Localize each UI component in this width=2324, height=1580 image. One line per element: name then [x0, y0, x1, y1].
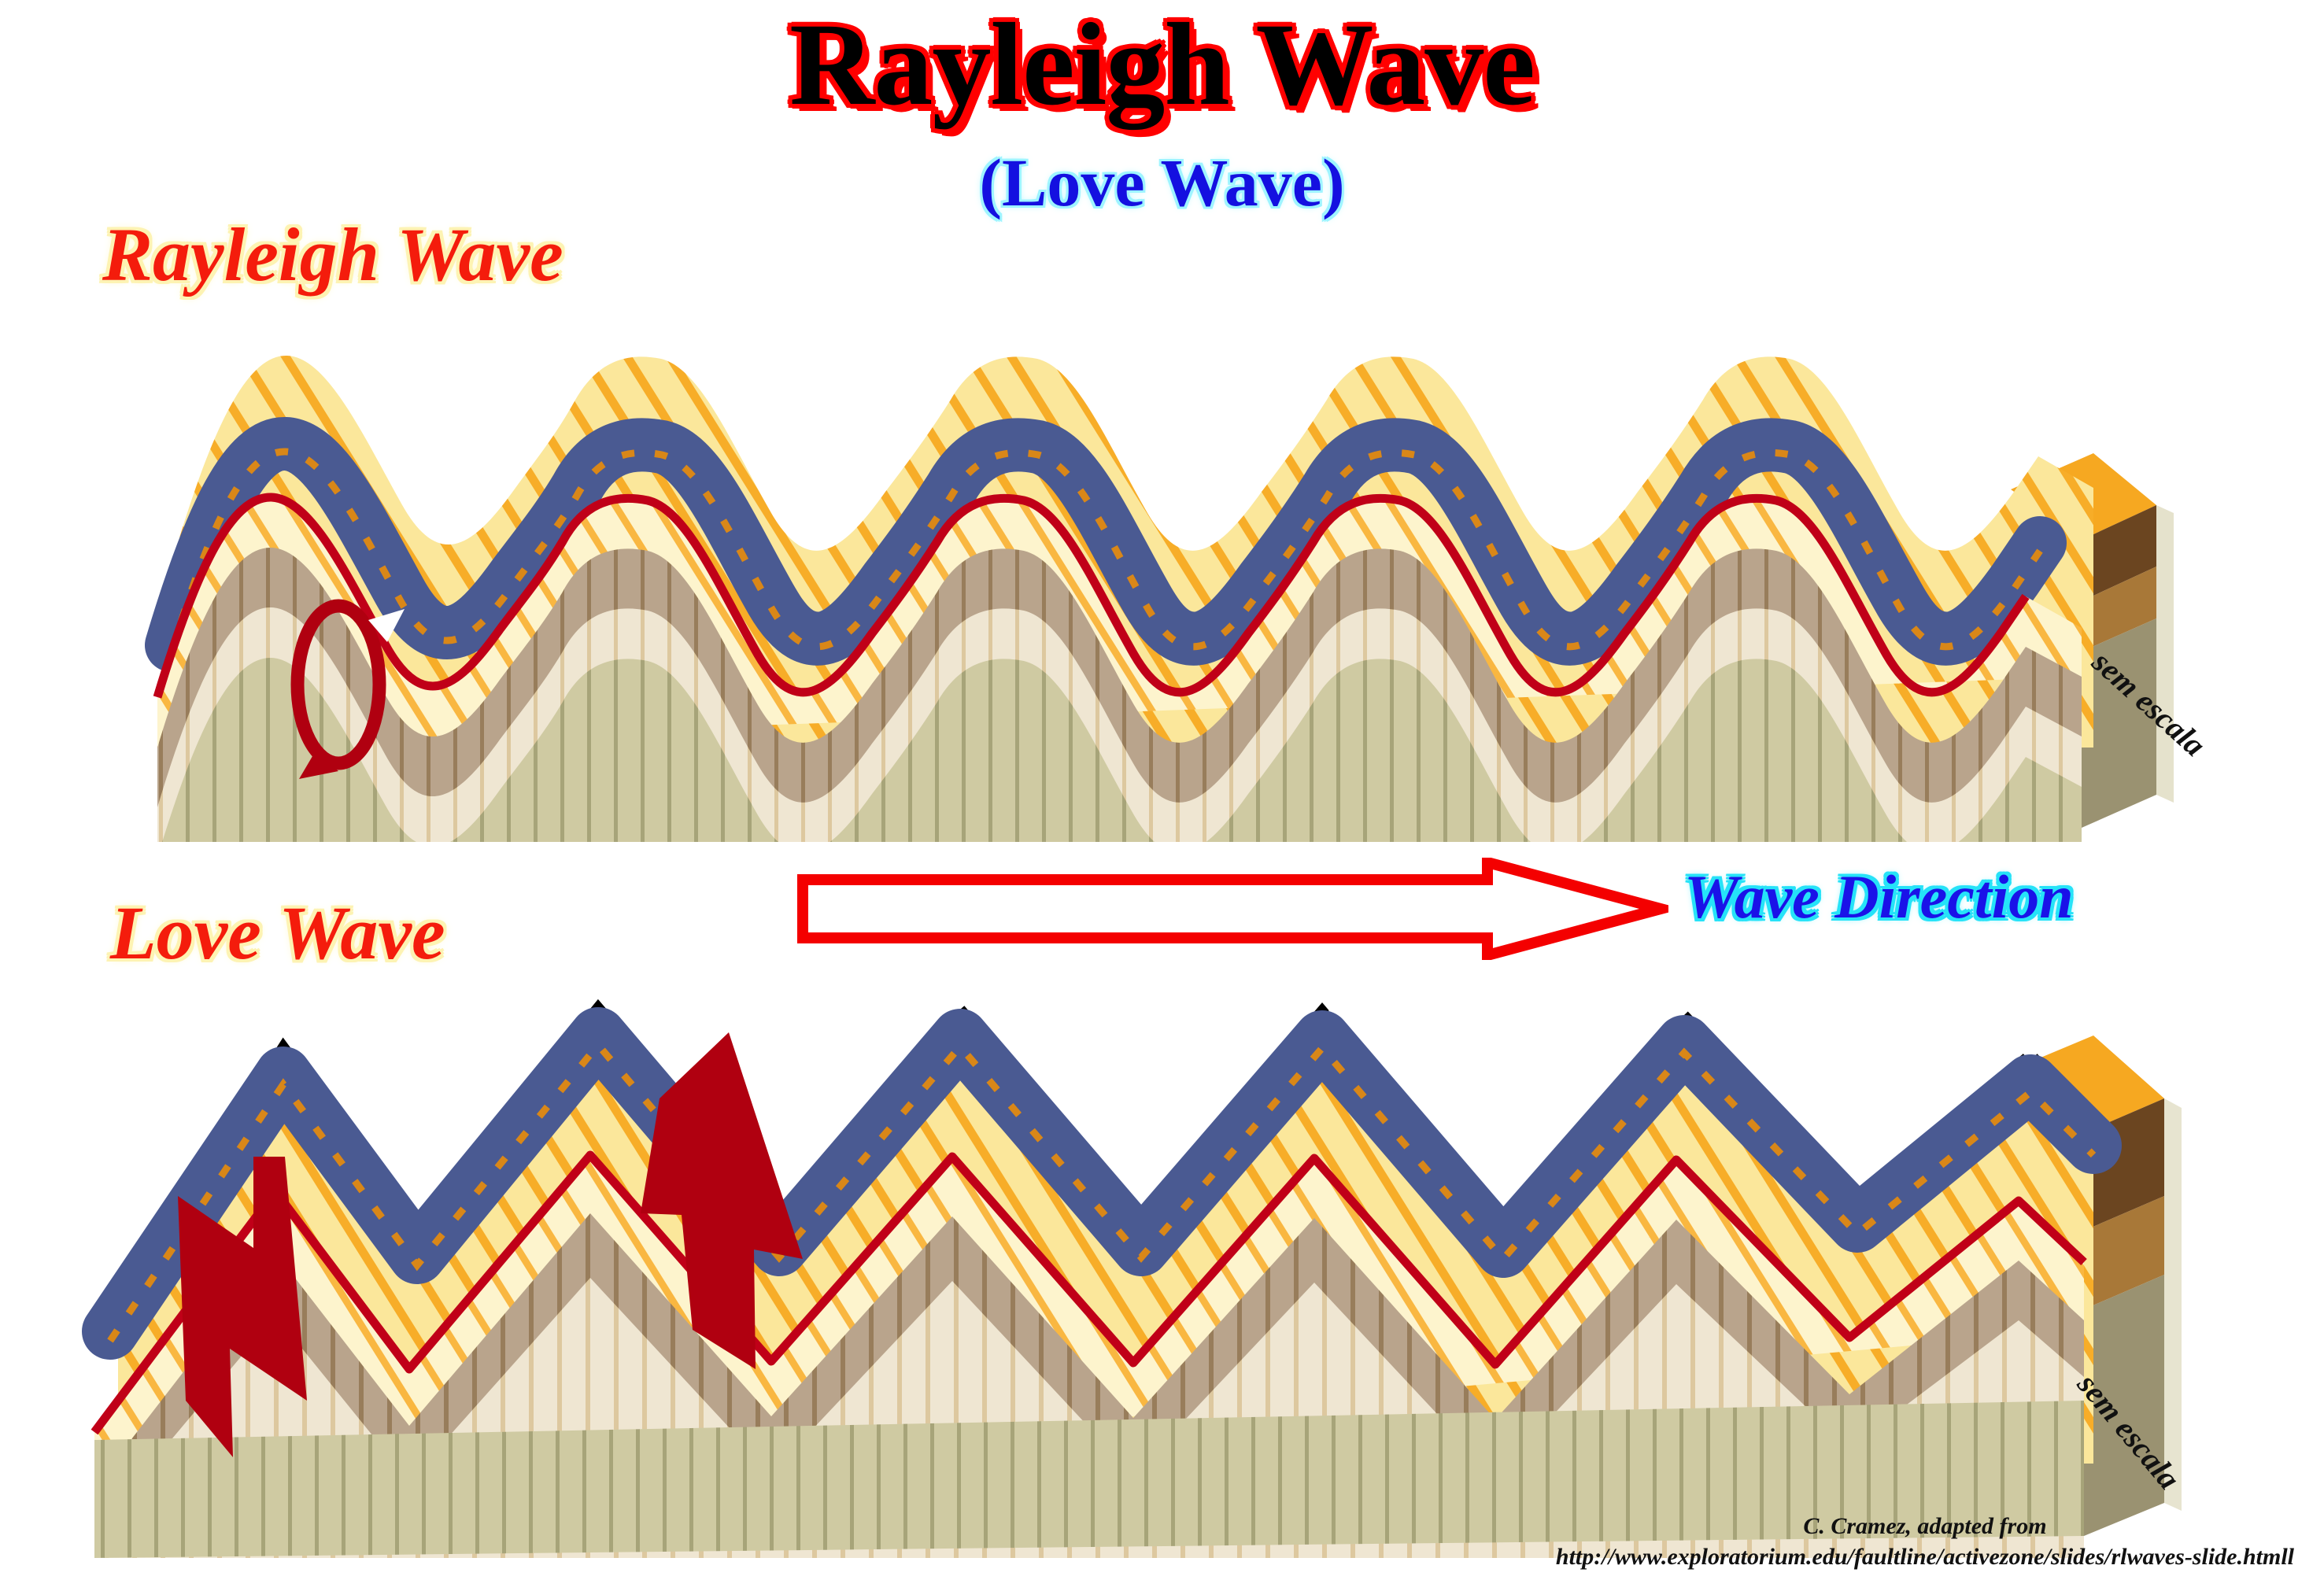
page-title: Rayleigh Wave: [0, 5, 2324, 125]
credit-author: C. Cramez, adapted from: [1556, 1512, 2294, 1541]
rayleigh-wave-label: Rayleigh Wave: [102, 211, 563, 298]
love-wave-block-diagram: sem escala: [47, 960, 2274, 1558]
rayleigh-wave-block-diagram: sem escala: [79, 307, 2251, 842]
credit-url: http://www.exploratorium.edu/faultline/a…: [1556, 1542, 2294, 1572]
wave-direction-arrow: [795, 858, 1668, 964]
page-subtitle: (Love Wave): [0, 143, 2324, 222]
credit-block: C. Cramez, adapted from http://www.explo…: [1556, 1512, 2294, 1572]
wave-direction-label: Wave Direction: [1684, 862, 2074, 932]
